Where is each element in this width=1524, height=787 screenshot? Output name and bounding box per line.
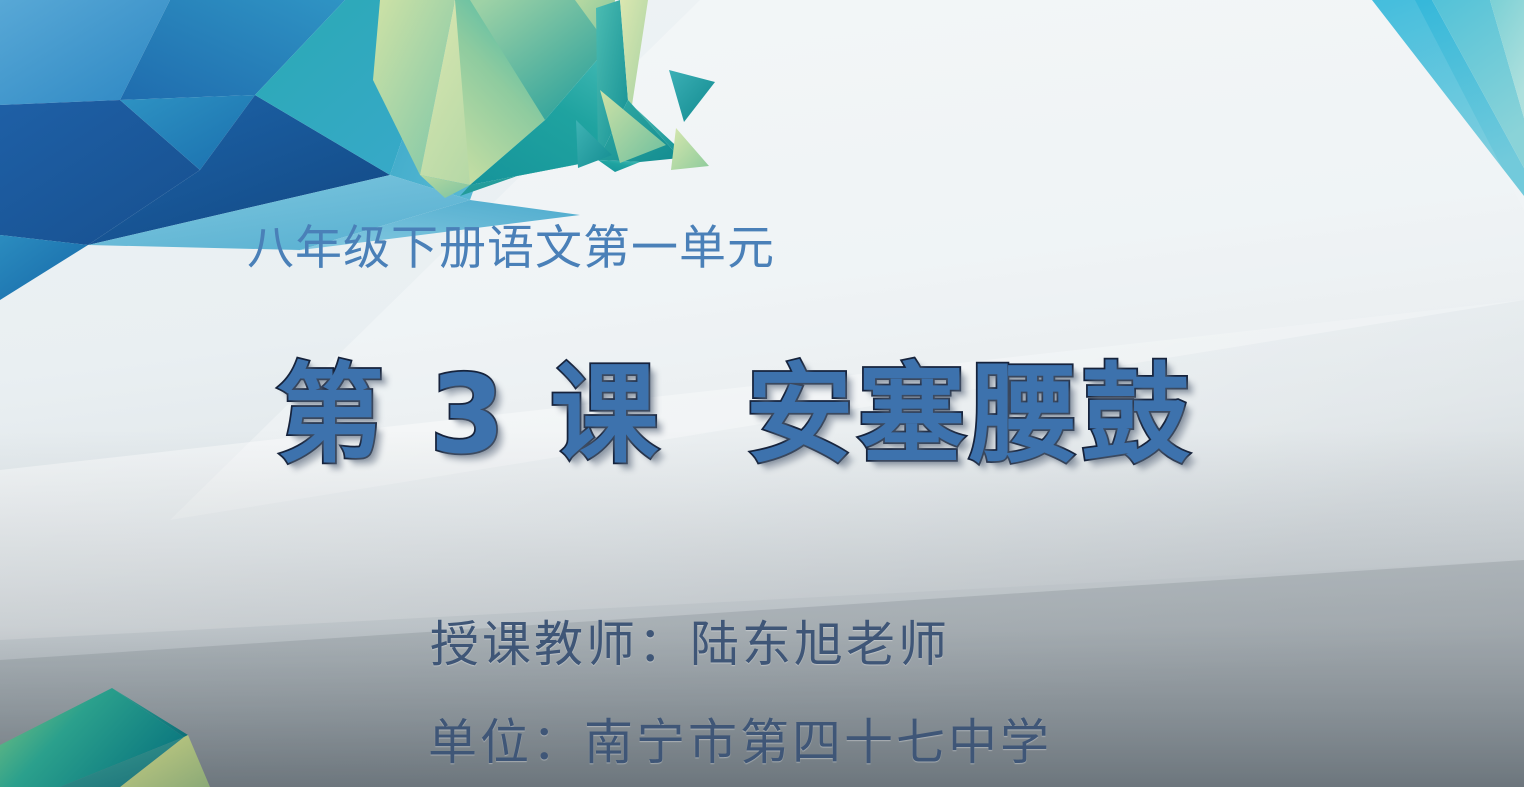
slide-text-layer: 八年级下册语文第一单元 第 3 课 安塞腰鼓 授课教师：陆东旭老师 单位：南宁市… bbox=[0, 0, 1524, 787]
presenter-school-line: 单位：南宁市第四十七中学 bbox=[428, 718, 1052, 767]
course-unit-subtitle: 八年级下册语文第一单元 bbox=[247, 224, 775, 271]
lesson-main-title: 第 3 课 安塞腰鼓 bbox=[276, 352, 1194, 479]
title-slide: 八年级下册语文第一单元 第 3 课 安塞腰鼓 授课教师：陆东旭老师 单位：南宁市… bbox=[0, 0, 1524, 787]
presenter-teacher-line: 授课教师：陆东旭老师 bbox=[430, 620, 950, 669]
